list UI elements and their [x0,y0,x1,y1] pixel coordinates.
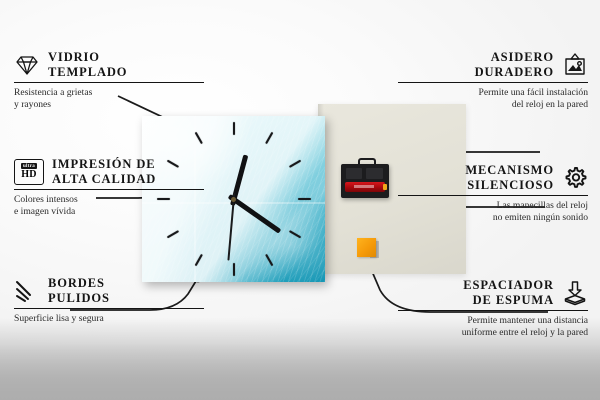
feature-asidero: ASIDERODURADERO Permite una fácil instal… [398,50,588,111]
mechanism-battery [345,182,385,192]
feature-asidero-title: ASIDERODURADERO [475,50,554,79]
floor-shadow [0,344,600,400]
feature-mecanismo-desc: Las manecillas del relojno emiten ningún… [398,200,588,224]
feature-vidrio-title: VIDRIOTEMPLADO [48,50,127,79]
foam-spacer [357,238,376,257]
feature-asidero-head: ASIDERODURADERO [398,50,588,79]
feature-bordes-title: BORDESPULIDOS [48,276,110,305]
feature-bordes-rule [14,308,204,309]
polished-edges-icon [14,278,40,304]
feature-vidrio-rule [14,82,204,83]
feature-mecanismo: MECANISMOSILENCIOSO Las manecillas del r… [398,163,588,224]
feature-impresion: ultra HD IMPRESIÓN DEALTA CALIDAD Colore… [14,157,204,218]
feature-asidero-rule [398,82,588,83]
feature-impresion-rule [14,189,204,190]
feature-espaciador-rule [398,310,588,311]
feature-vidrio: VIDRIOTEMPLADO Resistencia a grietasy ra… [14,50,204,111]
feature-bordes-desc: Superficie lisa y segura [14,313,204,325]
foam-spacer-icon [562,280,588,306]
feature-bordes-head: BORDESPULIDOS [14,276,204,305]
diamond-icon [14,52,40,78]
feature-bordes: BORDESPULIDOS Superficie lisa y segura [14,276,204,325]
feature-mecanismo-rule [398,195,588,196]
wall-hanger-icon [562,52,588,78]
feature-impresion-head: ultra HD IMPRESIÓN DEALTA CALIDAD [14,157,204,186]
gear-icon [562,165,588,191]
feature-impresion-desc: Colores intensose imagen vívida [14,194,204,218]
feature-espaciador: ESPACIADORDE ESPUMA Permite mantener una… [398,278,588,339]
clock-mechanism [341,158,389,198]
hands-center-pin [231,197,236,202]
feature-asidero-desc: Permite una fácil instalacióndel reloj e… [398,87,588,111]
feature-vidrio-head: VIDRIOTEMPLADO [14,50,204,79]
feature-espaciador-title: ESPACIADORDE ESPUMA [463,278,554,307]
feature-mecanismo-head: MECANISMOSILENCIOSO [398,163,588,192]
feature-vidrio-desc: Resistencia a grietasy rayones [14,87,204,111]
feature-mecanismo-title: MECANISMOSILENCIOSO [465,163,554,192]
mechanism-body [341,164,389,198]
feature-espaciador-desc: Permite mantener una distanciauniforme e… [398,315,588,339]
feature-impresion-title: IMPRESIÓN DEALTA CALIDAD [52,157,156,186]
ultra-hd-icon: ultra HD [14,159,44,185]
infographic-canvas: VIDRIOTEMPLADO Resistencia a grietasy ra… [0,0,600,400]
feature-espaciador-head: ESPACIADORDE ESPUMA [398,278,588,307]
